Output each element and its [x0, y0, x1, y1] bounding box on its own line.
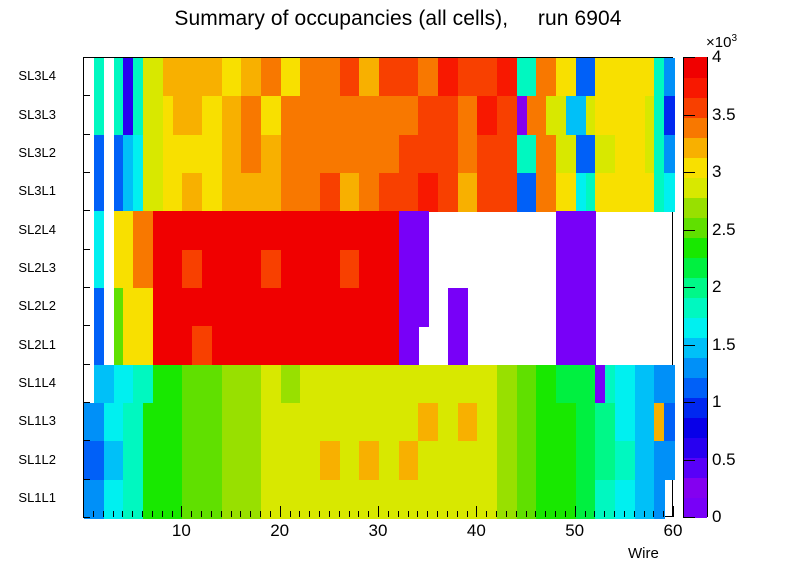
- x-axis-tick-major: [378, 506, 379, 517]
- colorbar-tick: [683, 230, 695, 231]
- colorbar-band: [684, 417, 707, 438]
- colorbar-tick: [683, 460, 695, 461]
- x-axis-tick-minor: [329, 511, 330, 517]
- x-axis-tick-minor: [447, 511, 448, 517]
- y-axis-label-sl1l1: SL1L1: [0, 491, 56, 504]
- colorbar-band: [684, 317, 707, 338]
- colorbar-exponent: ×103: [706, 33, 737, 51]
- x-axis-label-60: 60: [648, 521, 698, 541]
- y-axis-label-sl2l2: SL2L2: [0, 299, 56, 312]
- x-axis-tick-minor: [231, 511, 232, 517]
- x-axis-tick-minor: [427, 511, 428, 517]
- x-axis-tick-minor: [191, 511, 192, 517]
- y-axis-label-sl1l3: SL1L3: [0, 414, 56, 427]
- x-axis-tick-minor: [408, 511, 409, 517]
- x-axis-tick-minor: [545, 511, 546, 517]
- x-axis-tick-minor: [172, 511, 173, 517]
- colorbar-band: [684, 197, 707, 218]
- x-axis-tick-minor: [299, 511, 300, 517]
- colorbar-label-0p5: 0.5: [712, 451, 736, 468]
- x-axis-tick-minor: [319, 511, 320, 517]
- colorbar-band: [684, 217, 707, 238]
- x-axis-tick-minor: [368, 511, 369, 517]
- x-axis-tick-minor: [152, 511, 153, 517]
- x-axis-tick-minor: [358, 511, 359, 517]
- colorbar-band: [684, 237, 707, 258]
- x-axis-label-30: 30: [353, 521, 403, 541]
- x-axis-tick-minor: [585, 511, 586, 517]
- y-axis-label-sl3l3: SL3L3: [0, 108, 56, 121]
- y-axis-label-sl2l4: SL2L4: [0, 223, 56, 236]
- y-axis-tick: [83, 95, 90, 96]
- y-axis-label-sl2l1: SL2L1: [0, 338, 56, 351]
- colorbar-tick: [683, 57, 695, 58]
- colorbar-band: [684, 257, 707, 278]
- x-axis-tick-minor: [103, 511, 104, 517]
- x-axis-tick-minor: [132, 511, 133, 517]
- colorbar-band: [684, 137, 707, 158]
- colorbar-band: [684, 497, 707, 518]
- x-axis-tick-minor: [221, 511, 222, 517]
- colorbar-band: [684, 337, 707, 358]
- x-axis-tick-minor: [240, 511, 241, 517]
- x-axis-tick-minor: [663, 511, 664, 517]
- root-canvas: Summary of occupancies (all cells), run …: [0, 0, 796, 572]
- colorbar-label-3: 3: [712, 163, 721, 180]
- x-axis-tick-minor: [526, 511, 527, 517]
- x-axis-tick-minor: [309, 511, 310, 517]
- y-axis-label-sl3l1: SL3L1: [0, 184, 56, 197]
- x-axis-tick-minor: [604, 511, 605, 517]
- colorbar-label-1p5: 1.5: [712, 336, 736, 353]
- y-axis-tick: [83, 249, 90, 250]
- colorbar-band: [684, 477, 707, 498]
- x-axis-label-20: 20: [255, 521, 305, 541]
- x-axis-tick-major: [673, 506, 674, 517]
- x-axis-tick-minor: [535, 511, 536, 517]
- y-axis-tick: [83, 325, 90, 326]
- x-axis-title: Wire: [628, 545, 659, 562]
- y-axis-tick: [83, 479, 90, 480]
- x-axis-tick-minor: [516, 511, 517, 517]
- colorbar-tick: [683, 172, 695, 173]
- y-axis-label-sl3l2: SL3L2: [0, 146, 56, 159]
- colorbar-band: [684, 117, 707, 138]
- x-axis-label-50: 50: [550, 521, 600, 541]
- y-axis-tick: [83, 287, 90, 288]
- colorbar-band: [684, 57, 707, 78]
- colorbar-label-3p5: 3.5: [712, 106, 736, 123]
- colorbar-tick: [683, 115, 695, 116]
- x-axis-tick-minor: [624, 511, 625, 517]
- y-axis-label-sl1l4: SL1L4: [0, 376, 56, 389]
- x-axis-tick-minor: [250, 511, 251, 517]
- x-axis-label-10: 10: [156, 521, 206, 541]
- colorbar-band: [684, 297, 707, 318]
- x-axis-tick-minor: [339, 511, 340, 517]
- y-axis-tick: [83, 134, 90, 135]
- y-axis-tick: [83, 172, 90, 173]
- y-axis-label-sl2l3: SL2L3: [0, 261, 56, 274]
- y-axis-tick: [83, 364, 90, 365]
- colorbar-tick: [683, 345, 695, 346]
- x-axis-tick-minor: [653, 511, 654, 517]
- y-axis-tick: [83, 210, 90, 211]
- x-axis-tick-major: [476, 506, 477, 517]
- x-axis-tick-minor: [122, 511, 123, 517]
- x-axis-tick-minor: [496, 511, 497, 517]
- x-axis-tick-minor: [162, 511, 163, 517]
- colorbar-tick: [683, 402, 695, 403]
- y-axis-label-sl3l4: SL3L4: [0, 69, 56, 82]
- colorbar-band: [684, 77, 707, 98]
- x-axis-tick-minor: [398, 511, 399, 517]
- colorbar-label-0: 0: [712, 508, 721, 525]
- x-axis-tick-minor: [349, 511, 350, 517]
- x-axis-tick-minor: [486, 511, 487, 517]
- x-axis-tick-minor: [270, 511, 271, 517]
- colorbar-tick: [683, 287, 695, 288]
- colorbar-exponent-power: 3: [731, 33, 737, 44]
- colorbar-label-4: 4: [712, 48, 721, 65]
- x-axis-tick-major: [280, 506, 281, 517]
- x-axis-tick-minor: [388, 511, 389, 517]
- x-axis-label-40: 40: [451, 521, 501, 541]
- x-axis-tick-minor: [614, 511, 615, 517]
- x-axis-tick-minor: [290, 511, 291, 517]
- x-axis-tick-minor: [142, 511, 143, 517]
- x-axis-tick-minor: [506, 511, 507, 517]
- y-axis-tick: [83, 517, 90, 518]
- colorbar-band: [684, 157, 707, 178]
- x-axis-tick-minor: [634, 511, 635, 517]
- x-axis-tick-minor: [93, 511, 94, 517]
- x-axis-tick-minor: [211, 511, 212, 517]
- colorbar-label-2p5: 2.5: [712, 221, 736, 238]
- colorbar-band: [684, 377, 707, 398]
- x-axis-tick-minor: [457, 511, 458, 517]
- colorbar-label-2: 2: [712, 278, 721, 295]
- y-axis-label-sl1l2: SL1L2: [0, 453, 56, 466]
- x-axis-tick-minor: [201, 511, 202, 517]
- colorbar-band: [684, 437, 707, 458]
- x-axis-tick-minor: [437, 511, 438, 517]
- x-axis-tick-minor: [113, 511, 114, 517]
- colorbar-tick: [683, 517, 695, 518]
- x-axis-tick-minor: [555, 511, 556, 517]
- x-axis-tick-minor: [594, 511, 595, 517]
- x-axis-tick-minor: [260, 511, 261, 517]
- y-axis-tick: [83, 440, 90, 441]
- colorbar-band: [684, 177, 707, 198]
- x-axis-tick-minor: [644, 511, 645, 517]
- x-axis-tick-minor: [417, 511, 418, 517]
- x-axis-tick-major: [181, 506, 182, 517]
- colorbar-band: [684, 397, 707, 418]
- x-axis-tick-minor: [565, 511, 566, 517]
- colorbar-band: [684, 357, 707, 378]
- x-axis-tick-major: [575, 506, 576, 517]
- y-axis-tick: [83, 402, 90, 403]
- x-axis-tick-minor: [467, 511, 468, 517]
- colorbar-label-1: 1: [712, 393, 721, 410]
- y-axis: SL3L4SL3L3SL3L2SL3L1SL2L4SL2L3SL2L2SL2L1…: [0, 0, 796, 572]
